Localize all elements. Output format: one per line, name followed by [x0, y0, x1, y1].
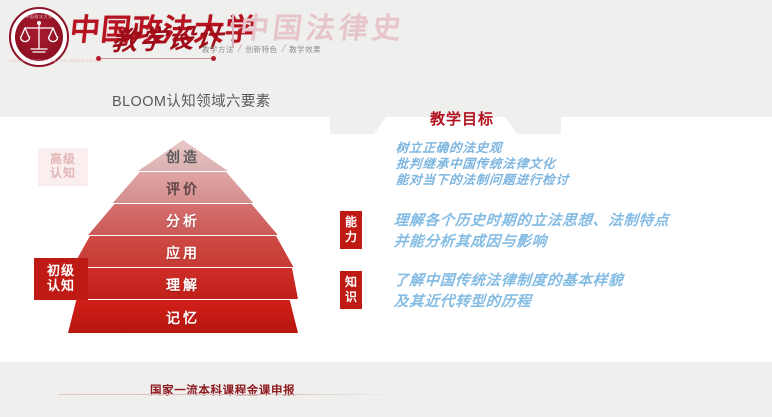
panel-notch-right	[505, 117, 561, 134]
slide-footer: 国家一流本科课程金课申报	[0, 362, 772, 417]
objectives-title: 教学目标	[430, 108, 494, 129]
pyramid-tier-label: 分析	[166, 211, 200, 231]
pyramid-tier-label: 记忆	[166, 308, 200, 328]
footer-rule	[58, 394, 398, 395]
header-accent-line	[96, 58, 216, 59]
slide-header: 中国政法大学 CHINA UNIVERSITY OF POLITICAL SCI…	[0, 0, 772, 78]
badge-lower-order-cognition: 初级 认知	[34, 258, 88, 300]
bloom-title: BLOOM认知领域六要素	[112, 90, 271, 111]
bloom-pyramid: 创造 评价 分析 应用 理解 记忆	[68, 140, 298, 335]
footer-title: 国家一流本科课程金课申报	[150, 382, 295, 398]
panel-notch-left	[330, 117, 386, 134]
subtag-effect: 教学效果	[289, 44, 321, 55]
subtag-innovation: 创新特色	[246, 44, 278, 55]
subtag-method: 教学方法	[202, 44, 234, 55]
pyramid-tier-evaluate: 评价	[68, 172, 298, 203]
knowledge-line: 了解中国传统法律制度的基本样貌	[393, 269, 624, 290]
header-course-title: 中国法律史	[238, 14, 407, 43]
pyramid-tier-understand: 理解	[68, 268, 298, 299]
badge-line-2: 认知	[50, 167, 76, 181]
slide-root: 中国政法大学 CHINA UNIVERSITY OF POLITICAL SCI…	[0, 0, 772, 417]
badge-line-1: 高级	[50, 153, 76, 167]
scales-of-justice-icon	[15, 13, 63, 61]
header-subtags: 教学方法 / 创新特色 / 教学效果	[202, 43, 321, 55]
ability-line: 并能分析其成因与影响	[393, 230, 547, 251]
pyramid-tier-label: 理解	[166, 275, 200, 295]
subtag-separator-1: /	[237, 43, 244, 55]
pyramid-tier-apply: 应用	[68, 236, 298, 267]
seal-bottom-text: CHINA UNIVERSITY OF POLITICAL SCIENCE AN…	[9, 59, 69, 63]
badge-line-1: 初级	[47, 264, 75, 279]
ability-tag: 能力	[340, 211, 362, 249]
knowledge-line: 及其近代转型的历程	[393, 290, 532, 311]
ability-line: 理解各个历史时期的立法思想、法制特点	[393, 209, 670, 230]
university-seal: 中国政法大学 CHINA UNIVERSITY OF POLITICAL SCI…	[9, 7, 69, 67]
subtag-separator-2: /	[280, 43, 287, 55]
pyramid-tier-label: 评价	[166, 179, 200, 199]
pyramid-tier-analyze: 分析	[68, 204, 298, 235]
header-dot-right	[211, 56, 216, 61]
knowledge-tag: 知识	[340, 271, 362, 309]
badge-higher-order-cognition: 高级 认知	[38, 148, 88, 186]
badge-line-2: 认知	[47, 279, 75, 294]
header-dot-left	[96, 56, 101, 61]
pyramid-tier-label: 创造	[166, 147, 200, 167]
objective-goal-line: 能对当下的法制问题进行检讨	[395, 169, 569, 188]
pyramid-tier-label: 应用	[166, 243, 200, 263]
seal-top-text: 中国政法大学	[9, 14, 69, 20]
pyramid-tier-remember: 记忆	[68, 300, 298, 333]
pyramid-tier-create: 创造	[68, 140, 298, 171]
